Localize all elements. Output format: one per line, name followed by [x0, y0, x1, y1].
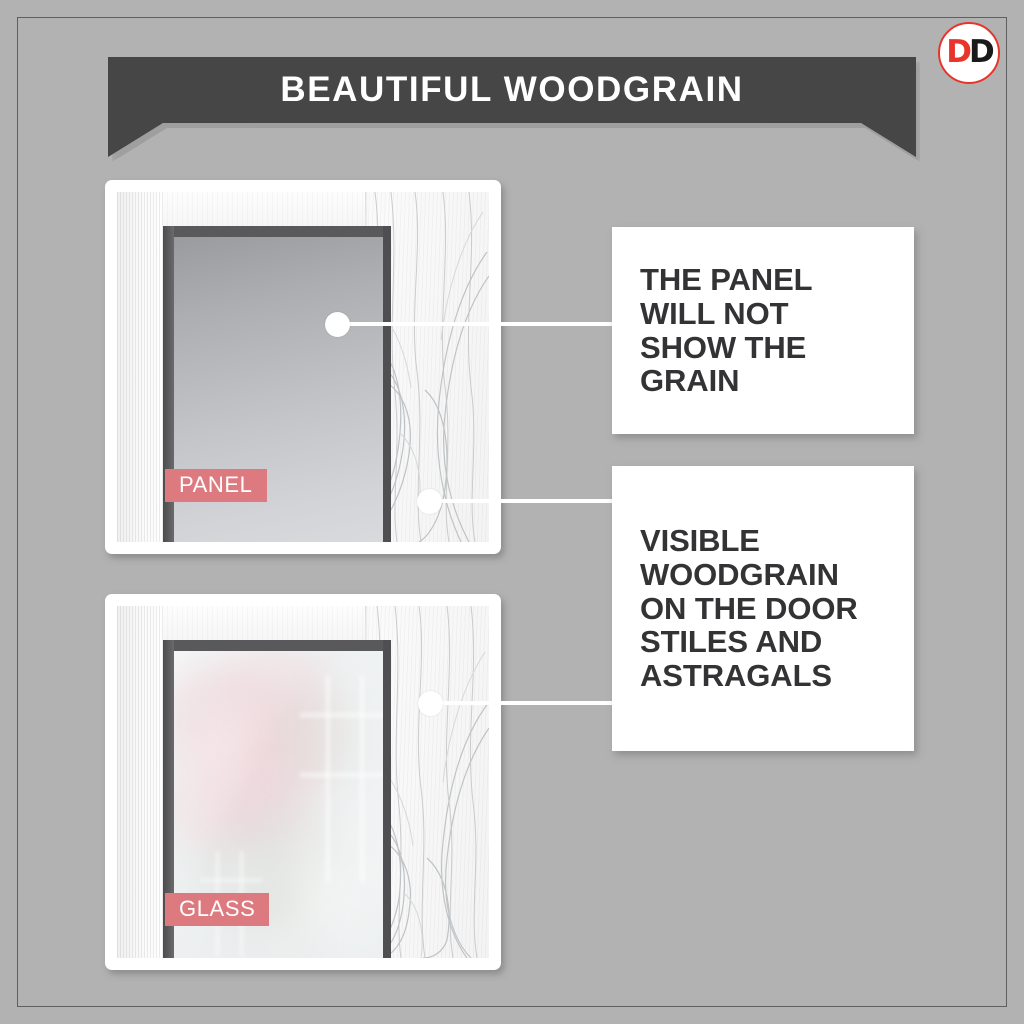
door-glass-photo: GLASS	[117, 606, 489, 958]
panel-bevel-right	[383, 226, 391, 542]
callout-line: GRAIN	[640, 364, 886, 398]
dd-logo[interactable]: DD	[938, 22, 1000, 84]
callout-woodgrain: VISIBLE WOODGRAIN ON THE DOOR STILES AND…	[612, 466, 914, 751]
glass-badge: GLASS	[165, 893, 269, 926]
callout-dot-stile-top	[417, 489, 442, 514]
logo-letter-two: D	[969, 34, 992, 70]
callout-line: WILL NOT	[640, 297, 886, 331]
callout-dot-panel	[325, 312, 350, 337]
dd-logo-text: DD	[946, 37, 991, 68]
door-left-jamb	[117, 606, 163, 958]
glass-bevel-right	[383, 640, 391, 958]
door-glass-image-card: GLASS	[105, 594, 501, 970]
callout-line: ASTRAGALS	[640, 659, 886, 693]
panel-badge: PANEL	[165, 469, 267, 502]
callout-line: SHOW THE	[640, 331, 886, 365]
glass-bevel-top	[163, 640, 391, 651]
logo-letter-one: D	[946, 34, 969, 70]
callout-panel: THE PANEL WILL NOT SHOW THE GRAIN	[612, 227, 914, 434]
page-title: BEAUTIFUL WOODGRAIN	[108, 57, 916, 123]
connector-line-stile-bottom	[433, 701, 618, 705]
connector-line-panel	[340, 322, 618, 326]
callout-dot-stile-bottom	[418, 691, 443, 716]
connector-line-stile-top	[432, 499, 618, 503]
callout-line: STILES AND	[640, 625, 886, 659]
door-left-jamb	[117, 192, 163, 542]
infographic-canvas: DD BEAUTIFUL WOODGRAIN	[0, 0, 1024, 1024]
callout-line: VISIBLE	[640, 524, 886, 558]
callout-line: THE PANEL	[640, 263, 886, 297]
callout-line: ON THE DOOR	[640, 592, 886, 626]
callout-line: WOODGRAIN	[640, 558, 886, 592]
panel-bevel-top	[163, 226, 391, 237]
title-banner: BEAUTIFUL WOODGRAIN	[108, 57, 916, 157]
